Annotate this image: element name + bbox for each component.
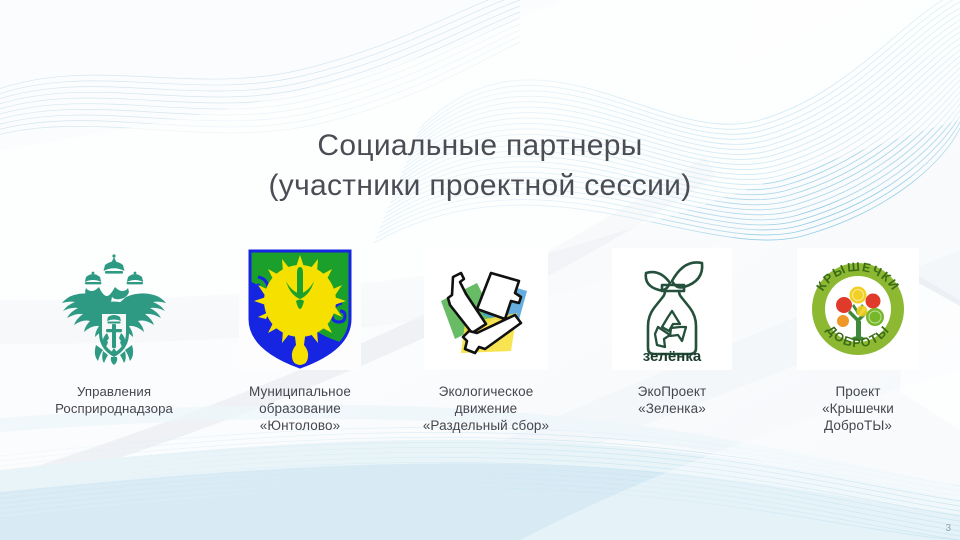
yuntolovo-coat-of-arms (239, 248, 361, 370)
partner-item-kryshechki-dobroty[interactable]: КРЫШЕЧКИ ДОБРОТЫ Проект «Крышечки ДоброТ… (772, 248, 944, 434)
rosprirodnadzor-eagle-emblem (53, 248, 175, 370)
caption-line: «Раздельный сбор» (423, 417, 549, 434)
partner-item-zelenka[interactable]: зелёнка ЭкоПроект «Зеленка» (586, 248, 758, 417)
zelenka-bottle-logo: зелёнка (612, 248, 732, 370)
razdelny-sbor-recycling-logo (424, 248, 548, 370)
caption-line: «Юнтолово» (249, 417, 351, 434)
kryshechki-dobroty-logo: КРЫШЕЧКИ ДОБРОТЫ (797, 248, 919, 370)
partner-caption-zelenka: ЭкоПроект «Зеленка» (638, 383, 707, 417)
caption-line: «Зеленка» (638, 400, 707, 417)
caption-line: «Крышечки (822, 400, 894, 417)
caption-line: Проект (822, 383, 894, 400)
partner-caption-razdelny-sbor: Экологическое движение «Раздельный сбор» (423, 383, 549, 434)
caption-line: движение (423, 400, 549, 417)
caption-line: Росприроднадзора (55, 400, 173, 417)
caption-line: Управления (55, 383, 173, 400)
caption-line: образование (249, 400, 351, 417)
partner-logo-row: Управления Росприроднадзора (28, 248, 944, 434)
page-number: 3 (945, 523, 951, 534)
partner-item-yuntolovo[interactable]: Муниципальное образование «Юнтолово» (214, 248, 386, 434)
partner-item-rosprirodnadzor[interactable]: Управления Росприроднадзора (28, 248, 200, 417)
slide-title: Социальные партнеры (участники проектной… (0, 126, 960, 206)
partner-caption-yuntolovo: Муниципальное образование «Юнтолово» (249, 383, 351, 434)
caption-line: ЭкоПроект (638, 383, 707, 400)
title-line-2: (участники проектной сессии) (0, 166, 960, 206)
caption-line: Муниципальное (249, 383, 351, 400)
partner-item-razdelny-sbor[interactable]: Экологическое движение «Раздельный сбор» (400, 248, 572, 434)
partner-caption-rosprirodnadzor: Управления Росприроднадзора (55, 383, 173, 417)
zelenka-wordmark: зелёнка (643, 348, 702, 363)
partner-caption-kryshechki-dobroty: Проект «Крышечки ДоброТЫ» (822, 383, 894, 434)
caption-line: Экологическое (423, 383, 549, 400)
caption-line: ДоброТЫ» (822, 417, 894, 434)
slide-canvas: Социальные партнеры (участники проектной… (0, 0, 960, 540)
title-line-1: Социальные партнеры (0, 126, 960, 166)
